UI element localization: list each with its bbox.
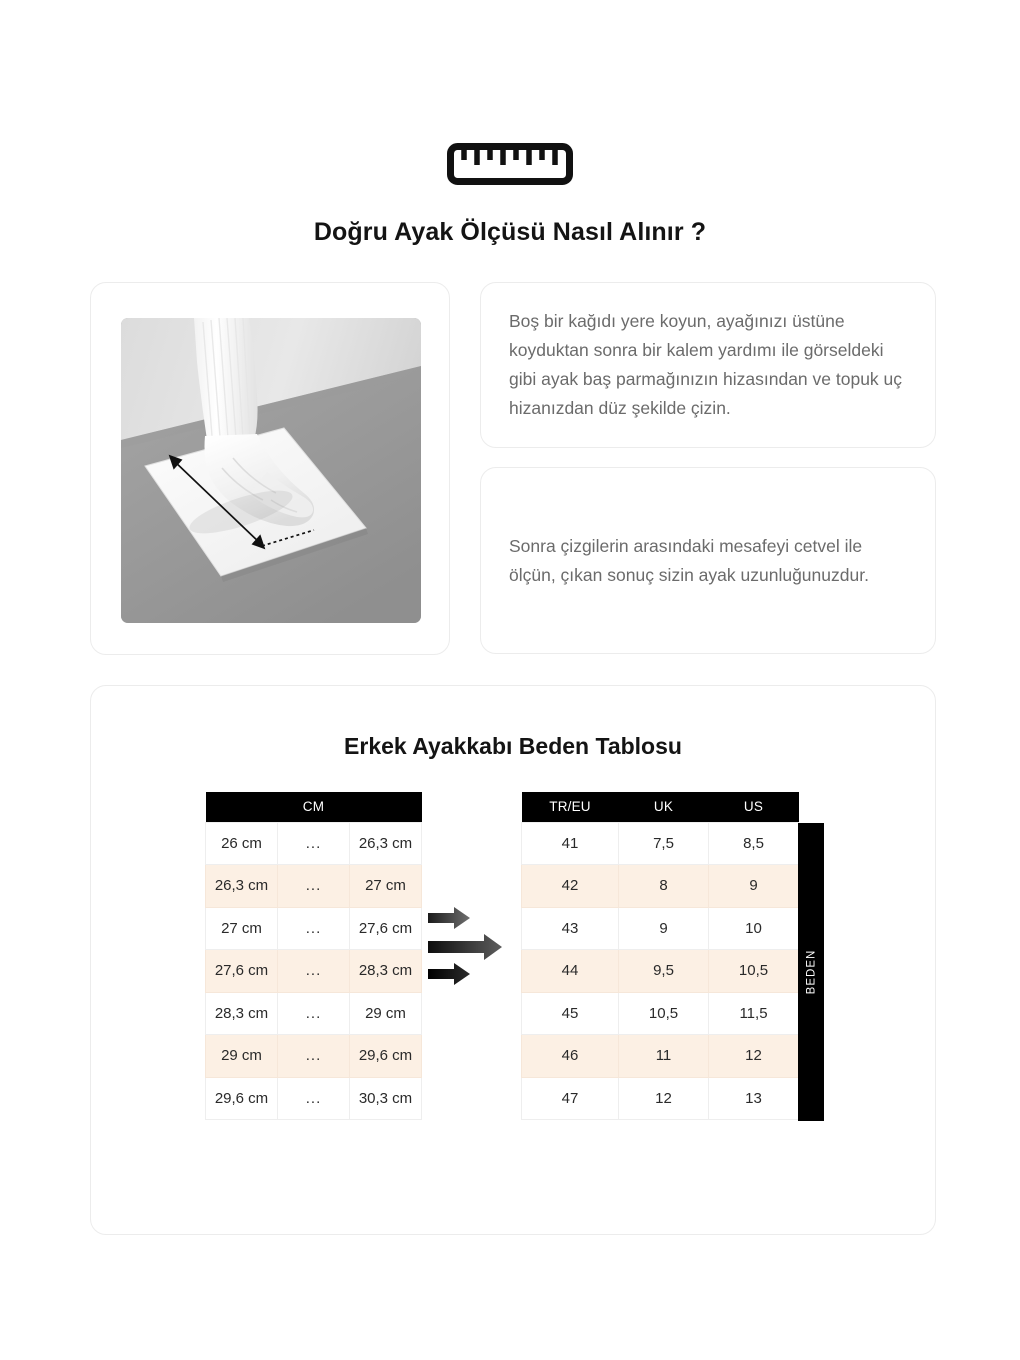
size-table-header-uk: UK: [619, 792, 709, 822]
cm-range-separator: ...: [278, 992, 350, 1035]
cm-range-to: 27,6 cm: [350, 907, 422, 950]
cm-range-from: 26,3 cm: [206, 865, 278, 908]
cm-range-separator: ...: [278, 1035, 350, 1078]
size-cell-tr-eu: 42: [522, 865, 619, 908]
cm-range-to: 27 cm: [350, 865, 422, 908]
size-cell-us: 11,5: [709, 992, 799, 1035]
cm-table-header-row: CM: [206, 792, 422, 822]
size-cell-uk: 9,5: [619, 950, 709, 993]
foot-measure-photo: [121, 318, 421, 623]
cm-range-from: 27 cm: [206, 907, 278, 950]
cm-range-from: 29,6 cm: [206, 1077, 278, 1120]
cm-table-header-cell: CM: [206, 792, 422, 822]
size-table-row: 43910: [522, 907, 799, 950]
size-cell-us: 10,5: [709, 950, 799, 993]
page-title: Doğru Ayak Ölçüsü Nasıl Alınır ?: [0, 218, 1020, 247]
cm-range-from: 29 cm: [206, 1035, 278, 1078]
cm-range-to: 28,3 cm: [350, 950, 422, 993]
size-table-header-us: US: [709, 792, 799, 822]
size-table-row: 417,58,5: [522, 822, 799, 865]
cm-range-from: 27,6 cm: [206, 950, 278, 993]
size-cell-uk: 12: [619, 1077, 709, 1120]
beden-side-bar: BEDEN: [798, 823, 824, 1121]
cm-range-separator: ...: [278, 950, 350, 993]
cm-table-row: 26,3 cm...27 cm: [206, 865, 422, 908]
size-cell-tr-eu: 44: [522, 950, 619, 993]
ruler-icon: [447, 143, 573, 185]
size-cell-uk: 7,5: [619, 822, 709, 865]
ruler-icon-container: [0, 143, 1020, 185]
size-table-row: 461112: [522, 1035, 799, 1078]
size-table-row: 4510,511,5: [522, 992, 799, 1035]
arrow-right-icon-2: [428, 934, 502, 960]
size-table-row: 449,510,5: [522, 950, 799, 993]
size-table-card: Erkek Ayakkabı Beden Tablosu CM 26 cm...…: [90, 685, 936, 1235]
cm-table-row: 26 cm...26,3 cm: [206, 822, 422, 865]
size-table-row: 4289: [522, 865, 799, 908]
size-cell-tr-eu: 45: [522, 992, 619, 1035]
foot-measure-photo-card: [90, 282, 450, 655]
size-cell-us: 9: [709, 865, 799, 908]
cm-range-to: 26,3 cm: [350, 822, 422, 865]
size-cell-uk: 11: [619, 1035, 709, 1078]
size-conversion-table: TR/EUUKUS 417,58,5428943910449,510,54510…: [521, 792, 799, 1120]
beden-side-label: BEDEN: [805, 950, 817, 995]
cm-table-row: 29 cm...29,6 cm: [206, 1035, 422, 1078]
cm-range-separator: ...: [278, 865, 350, 908]
cm-table-row: 27 cm...27,6 cm: [206, 907, 422, 950]
arrow-right-icon-1: [428, 907, 470, 929]
cm-table-row: 28,3 cm...29 cm: [206, 992, 422, 1035]
size-cell-us: 10: [709, 907, 799, 950]
size-tables-area: CM 26 cm...26,3 cm26,3 cm...27 cm27 cm..…: [91, 792, 937, 1132]
size-cell-uk: 8: [619, 865, 709, 908]
cm-table: CM 26 cm...26,3 cm26,3 cm...27 cm27 cm..…: [205, 792, 422, 1120]
cm-range-separator: ...: [278, 907, 350, 950]
size-table-row: 471213: [522, 1077, 799, 1120]
cm-range-from: 28,3 cm: [206, 992, 278, 1035]
size-cell-tr-eu: 47: [522, 1077, 619, 1120]
size-cell-us: 8,5: [709, 822, 799, 865]
size-table-header-tr-eu: TR/EU: [522, 792, 619, 822]
size-cell-us: 13: [709, 1077, 799, 1120]
size-cell-tr-eu: 46: [522, 1035, 619, 1078]
cm-range-to: 29,6 cm: [350, 1035, 422, 1078]
size-cell-tr-eu: 41: [522, 822, 619, 865]
size-table-header-row: TR/EUUKUS: [522, 792, 799, 822]
size-table-title: Erkek Ayakkabı Beden Tablosu: [91, 733, 935, 760]
size-cell-uk: 9: [619, 907, 709, 950]
cm-range-separator: ...: [278, 1077, 350, 1120]
instruction-card-step-2: Sonra çizgilerin arasındaki mesafeyi cet…: [480, 467, 936, 654]
instruction-card-step-1: Boş bir kağıdı yere koyun, ayağınızı üst…: [480, 282, 936, 448]
size-cell-tr-eu: 43: [522, 907, 619, 950]
cm-table-row: 29,6 cm...30,3 cm: [206, 1077, 422, 1120]
arrows-group: [426, 905, 522, 989]
cm-range-to: 29 cm: [350, 992, 422, 1035]
size-cell-uk: 10,5: [619, 992, 709, 1035]
size-guide-page: Doğru Ayak Ölçüsü Nasıl Alınır ?: [0, 0, 1020, 1360]
cm-range-from: 26 cm: [206, 822, 278, 865]
cm-table-row: 27,6 cm...28,3 cm: [206, 950, 422, 993]
instruction-text-step-1: Boş bir kağıdı yere koyun, ayağınızı üst…: [481, 307, 935, 423]
cm-range-separator: ...: [278, 822, 350, 865]
cm-range-to: 30,3 cm: [350, 1077, 422, 1120]
size-cell-us: 12: [709, 1035, 799, 1078]
arrow-right-icon-3: [428, 963, 470, 985]
instruction-text-step-2: Sonra çizgilerin arasındaki mesafeyi cet…: [481, 532, 935, 590]
